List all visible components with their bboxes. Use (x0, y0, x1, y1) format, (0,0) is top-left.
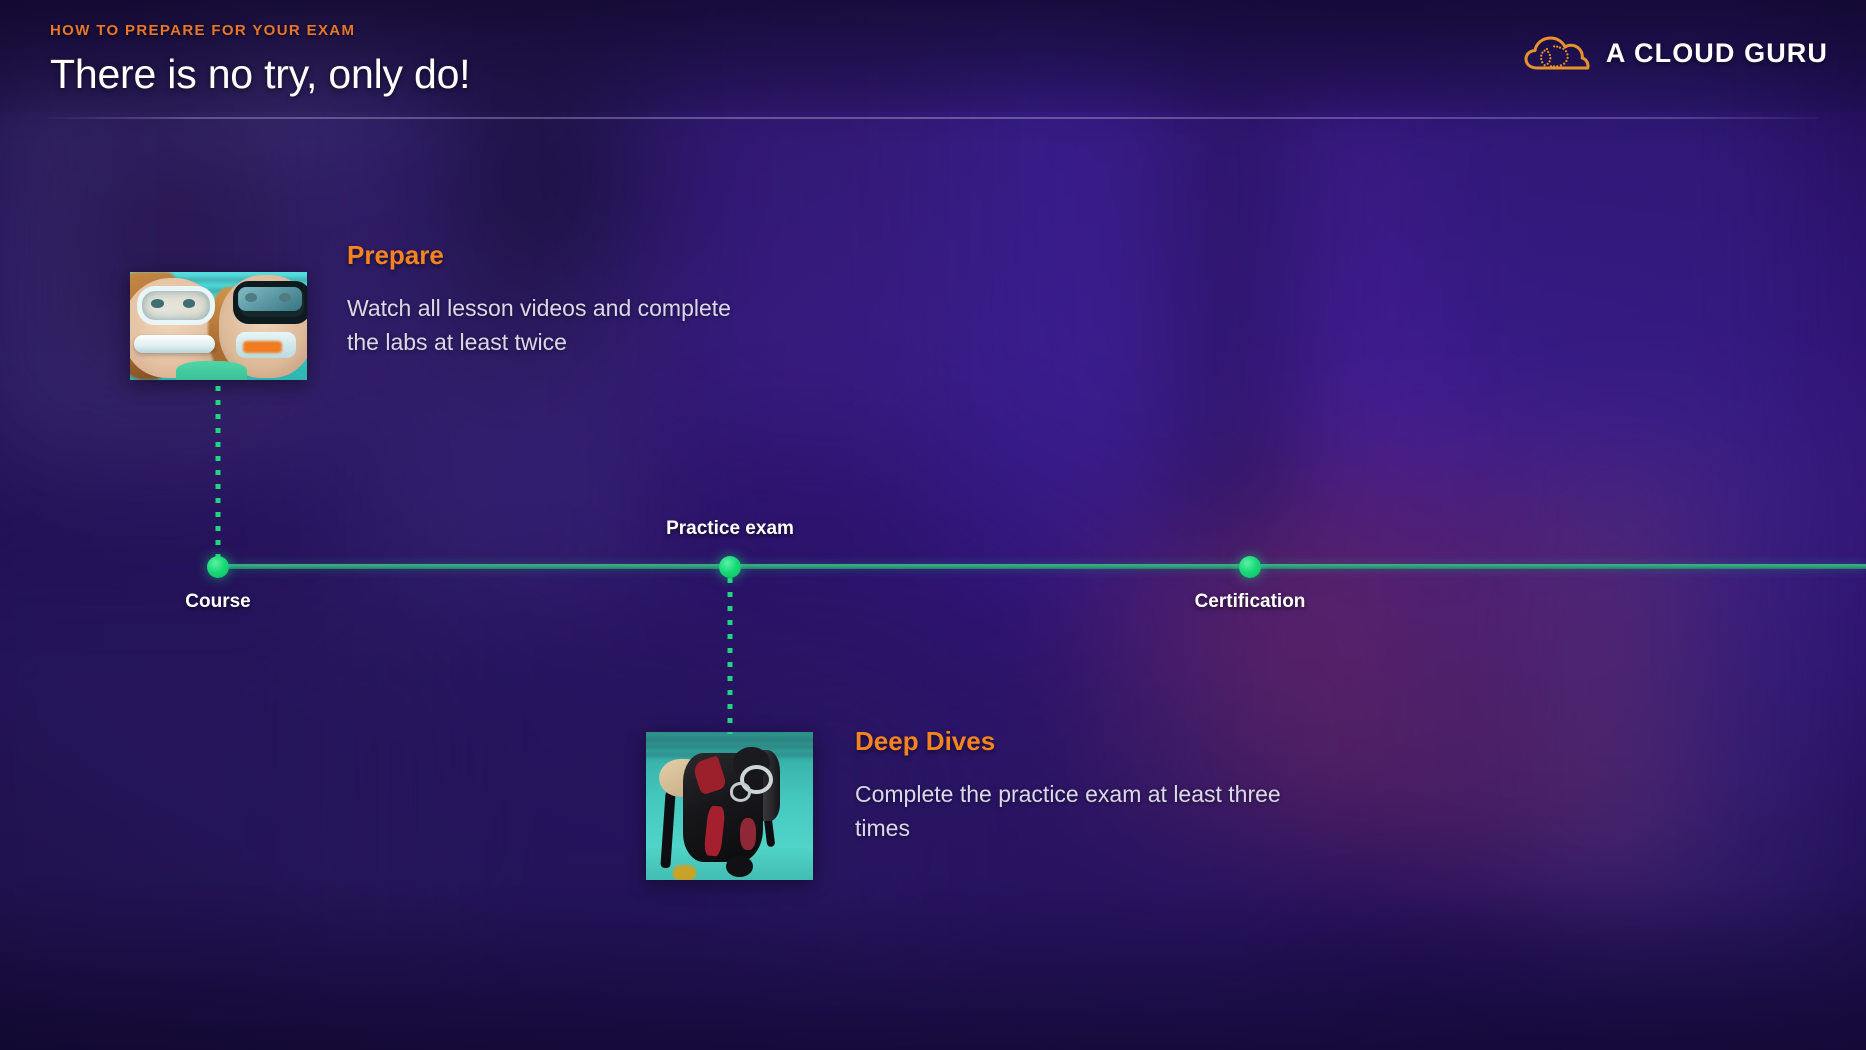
block-deep-dives: Deep Dives Complete the practice exam at… (855, 726, 1285, 845)
connector-prepare-to-course (216, 386, 221, 562)
connector-practice-to-deepdives (728, 578, 733, 734)
timeline-label-practice-exam: Practice exam (666, 518, 794, 540)
timeline-label-certification: Certification (1195, 591, 1306, 613)
block-prepare: Prepare Watch all lesson videos and comp… (347, 240, 747, 359)
timeline-node-certification[interactable] (1239, 556, 1261, 578)
timeline-node-practice[interactable] (719, 556, 741, 578)
block-prepare-title: Prepare (347, 240, 747, 271)
scuba-diver-underwater-photo (646, 732, 813, 880)
block-deep-dives-title: Deep Dives (855, 726, 1285, 757)
page-title: There is no try, only do! (50, 51, 470, 98)
timeline-label-course: Course (185, 591, 250, 613)
slide-canvas: HOW TO PREPARE FOR YOUR EXAM There is no… (0, 0, 1866, 1050)
block-deep-dives-body: Complete the practice exam at least thre… (855, 777, 1285, 845)
kicker-text: HOW TO PREPARE FOR YOUR EXAM (50, 22, 470, 39)
snorkelers-underwater-photo (130, 272, 307, 380)
background-vignette (0, 0, 1866, 1050)
timeline-node-course[interactable] (207, 556, 229, 578)
cloud-icon (1524, 33, 1590, 73)
timeline-axis (218, 564, 1866, 569)
block-prepare-body: Watch all lesson videos and complete the… (347, 291, 747, 359)
header-divider (48, 117, 1818, 119)
slide-header: HOW TO PREPARE FOR YOUR EXAM There is no… (50, 22, 470, 98)
brand-logo: A CLOUD GURU (1524, 33, 1828, 73)
brand-name: A CLOUD GURU (1606, 38, 1828, 69)
